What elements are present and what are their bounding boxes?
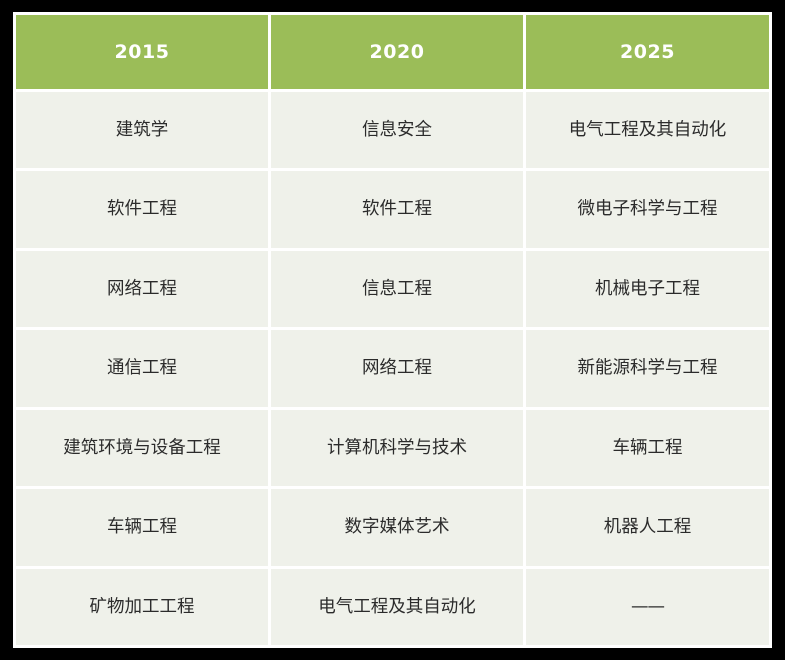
table-row: 建筑学 信息安全 电气工程及其自动化 [16,92,769,168]
column-header-2015: 2015 [16,15,268,89]
table-row: 通信工程 网络工程 新能源科学与工程 [16,330,769,406]
cell-2020: 网络工程 [271,330,523,406]
cell-2020: 数字媒体艺术 [271,489,523,565]
cell-2025: 电气工程及其自动化 [526,92,769,168]
table-row: 车辆工程 数字媒体艺术 机器人工程 [16,489,769,565]
header-row: 2015 2020 2025 [16,15,769,89]
table-row: 软件工程 软件工程 微电子科学与工程 [16,171,769,247]
table-header: 2015 2020 2025 [16,15,769,89]
cell-2015: 矿物加工工程 [16,569,268,645]
cell-2020: 电气工程及其自动化 [271,569,523,645]
cell-2025: 机器人工程 [526,489,769,565]
cell-2020: 信息安全 [271,92,523,168]
table-row: 建筑环境与设备工程 计算机科学与技术 车辆工程 [16,410,769,486]
cell-2020: 计算机科学与技术 [271,410,523,486]
column-header-2020: 2020 [271,15,523,89]
cell-2025: 机械电子工程 [526,251,769,327]
cell-2015: 软件工程 [16,171,268,247]
cell-2025: 微电子科学与工程 [526,171,769,247]
cell-2015: 车辆工程 [16,489,268,565]
cell-2015: 建筑学 [16,92,268,168]
majors-comparison-table: 2015 2020 2025 建筑学 信息安全 电气工程及其自动化 软件工程 软… [13,12,772,648]
outer-frame: 2015 2020 2025 建筑学 信息安全 电气工程及其自动化 软件工程 软… [0,0,785,660]
cell-2020: 软件工程 [271,171,523,247]
table-body: 建筑学 信息安全 电气工程及其自动化 软件工程 软件工程 微电子科学与工程 网络… [16,92,769,645]
cell-2025: 车辆工程 [526,410,769,486]
column-header-2025: 2025 [526,15,769,89]
cell-2015: 通信工程 [16,330,268,406]
table-row: 网络工程 信息工程 机械电子工程 [16,251,769,327]
table-row: 矿物加工工程 电气工程及其自动化 —— [16,569,769,645]
cell-2015: 网络工程 [16,251,268,327]
cell-2015: 建筑环境与设备工程 [16,410,268,486]
cell-2025-empty: —— [526,569,769,645]
cell-2020: 信息工程 [271,251,523,327]
cell-2025: 新能源科学与工程 [526,330,769,406]
table-container: 2015 2020 2025 建筑学 信息安全 电气工程及其自动化 软件工程 软… [13,12,766,648]
